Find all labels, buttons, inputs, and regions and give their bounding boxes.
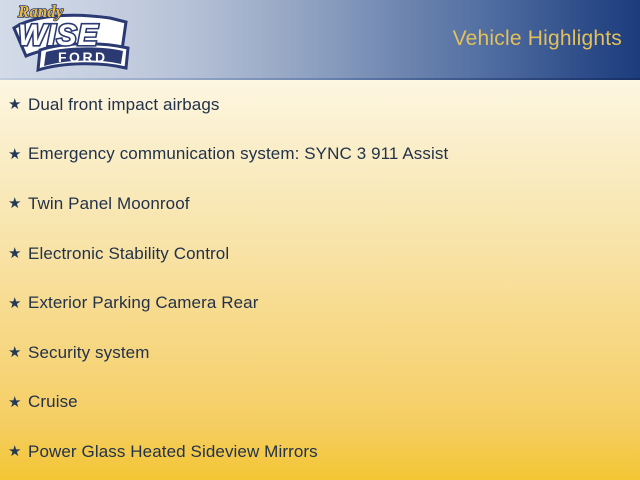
highlight-label: Electronic Stability Control	[28, 244, 640, 264]
highlight-label: Dual front impact airbags	[28, 95, 640, 115]
star-icon: ★	[8, 147, 28, 162]
logo-ford-text: FORD	[58, 49, 108, 65]
star-icon: ★	[8, 246, 28, 261]
highlight-label: Emergency communication system: SYNC 3 9…	[28, 144, 640, 164]
vehicle-highlights-list: ★ Dual front impact airbags ★ Emergency …	[0, 80, 640, 480]
list-item: ★ Twin Panel Moonroof	[0, 179, 640, 229]
list-item: ★ Cruise	[0, 378, 640, 428]
star-icon: ★	[8, 395, 28, 410]
list-item: ★ Security system	[0, 328, 640, 378]
logo-randy-text: Randy	[17, 2, 64, 21]
list-item: ★ Exterior Parking Camera Rear	[0, 278, 640, 328]
list-item: ★ Electronic Stability Control	[0, 229, 640, 279]
highlight-label: Cruise	[28, 392, 640, 412]
list-item: ★ Emergency communication system: SYNC 3…	[0, 130, 640, 180]
page-title: Vehicle Highlights	[453, 27, 622, 51]
highlight-label: Twin Panel Moonroof	[28, 194, 640, 214]
list-item: ★ Dual front impact airbags	[0, 80, 640, 130]
vehicle-highlights-page: WISE FORD Randy Vehicle Highlights ★ Dua…	[0, 0, 640, 480]
star-icon: ★	[8, 444, 28, 459]
highlight-label: Security system	[28, 343, 640, 363]
list-item: ★ Power Glass Heated Sideview Mirrors	[0, 427, 640, 477]
star-icon: ★	[8, 296, 28, 311]
page-header: WISE FORD Randy Vehicle Highlights	[0, 0, 640, 80]
star-icon: ★	[8, 97, 28, 112]
star-icon: ★	[8, 196, 28, 211]
logo-wise-text: WISE	[18, 19, 99, 52]
highlight-label: Exterior Parking Camera Rear	[28, 293, 640, 313]
highlight-label: Power Glass Heated Sideview Mirrors	[28, 442, 640, 462]
dealer-logo: WISE FORD Randy	[6, 0, 138, 78]
star-icon: ★	[8, 345, 28, 360]
